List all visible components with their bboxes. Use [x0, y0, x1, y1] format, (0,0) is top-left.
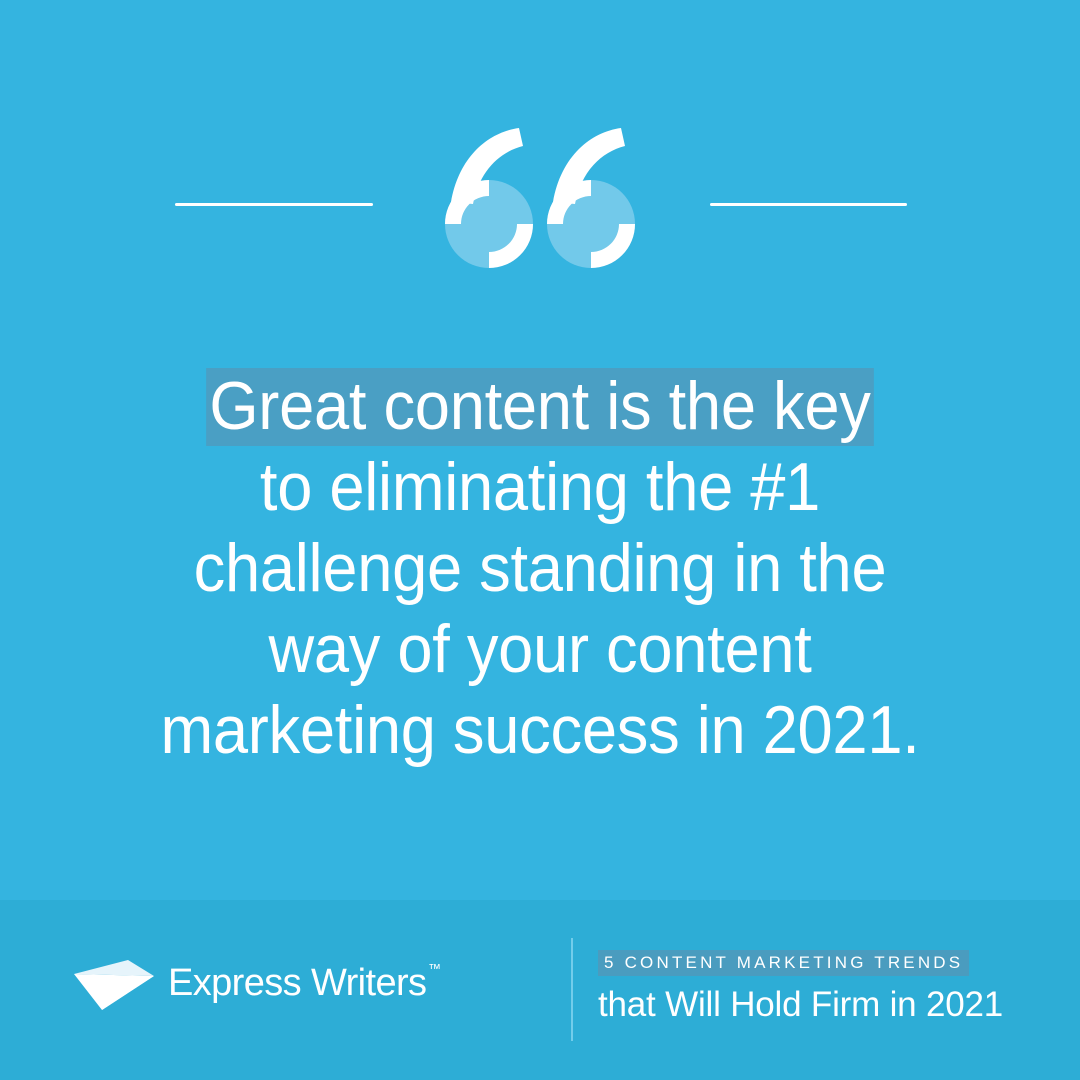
quote-graphic-canvas: Great content is the key to eliminating … [0, 0, 1080, 1080]
decorative-rule-right [710, 203, 907, 206]
double-quote-open-icon [0, 118, 1080, 288]
decorative-rule-left [175, 203, 373, 206]
quote-line-1-highlight: Great content is the key [206, 368, 875, 446]
brand-logo[interactable]: Express Writers™ [72, 948, 440, 1018]
quote-line-5: marketing success in 2021. [38, 690, 1042, 771]
quote-text: Great content is the key to eliminating … [38, 366, 1042, 771]
campaign-eyebrow: 5 CONTENT MARKETING TRENDS [598, 950, 969, 976]
paper-plane-icon [72, 954, 156, 1012]
quote-line-1: Great content is the key [38, 366, 1042, 447]
brand-name: Express Writers™ [168, 964, 440, 1002]
quote-line-3: challenge standing in the [38, 528, 1042, 609]
quote-line-2: to eliminating the #1 [38, 447, 1042, 528]
footer-divider [571, 938, 573, 1041]
quote-line-4: way of your content [38, 609, 1042, 690]
brand-name-text: Express Writers [168, 962, 426, 1004]
campaign-title: that Will Hold Firm in 2021 [598, 984, 1003, 1026]
campaign-block: 5 CONTENT MARKETING TRENDS that Will Hol… [598, 950, 1003, 1026]
trademark-symbol: ™ [428, 962, 440, 975]
